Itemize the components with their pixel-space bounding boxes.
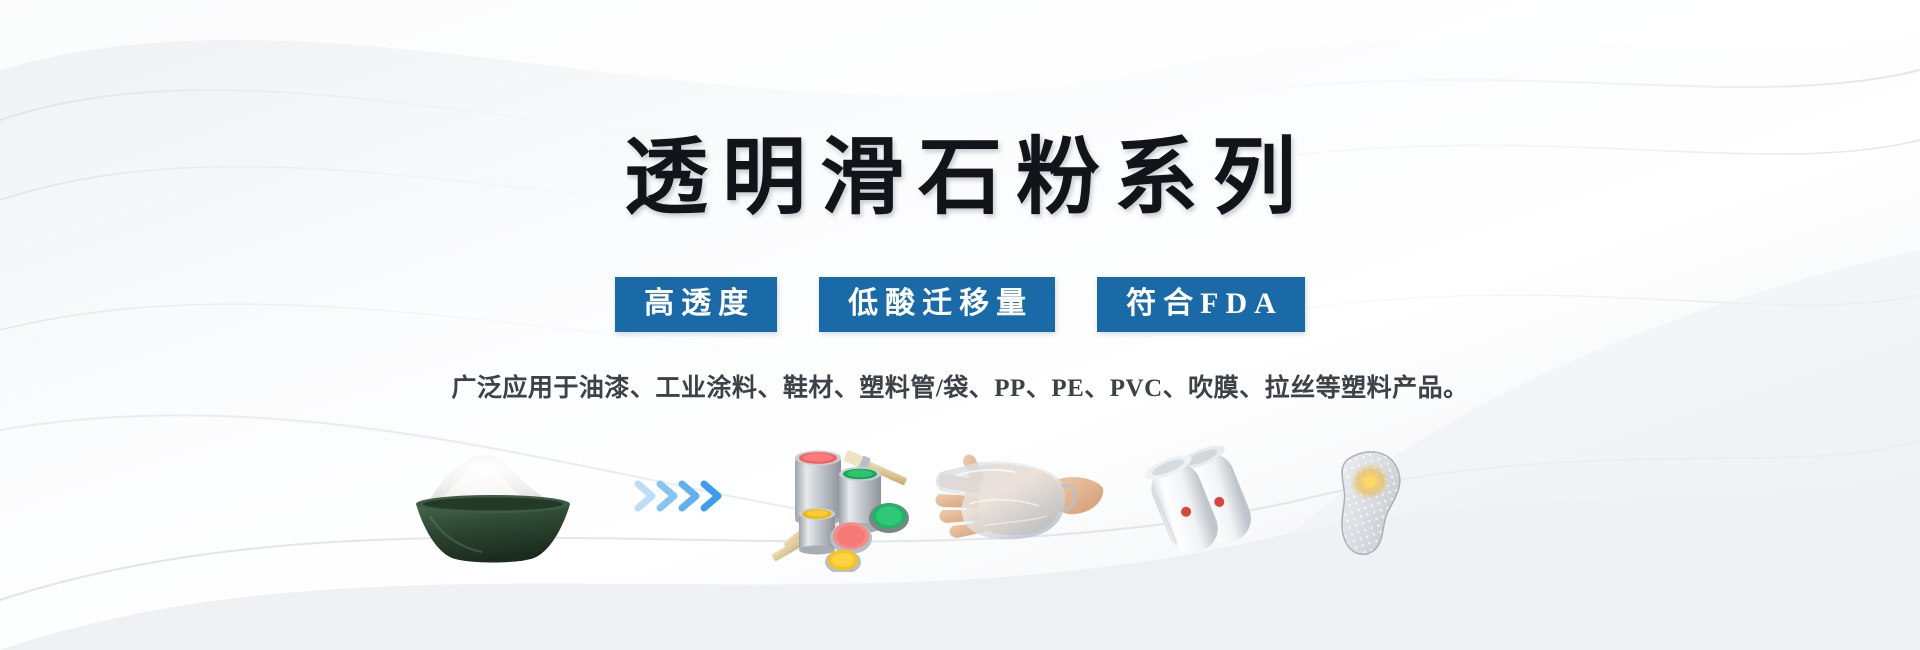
feature-badge-group: 高透度 低酸迁移量 符合FDA [0,277,1920,332]
page-title: 透明滑石粉系列 [610,134,1310,223]
feature-badge-low-acid-migration[interactable]: 低酸迁移量 [819,277,1055,332]
feature-badge-high-transparency[interactable]: 高透度 [615,277,777,332]
product-image-strip [0,432,1920,572]
shoe-insole-image [1318,444,1438,556]
product-banner: 透明滑石粉系列 高透度 低酸迁移量 符合FDA 广泛应用于油漆、工业涂料、鞋材、… [0,0,1920,650]
title-container: 透明滑石粉系列 [0,78,1920,280]
feature-badge-fda-compliant[interactable]: 符合FDA [1097,277,1305,332]
plastic-glove-image [935,440,1105,552]
process-arrow-icon [632,478,732,514]
talc-powder-bowl-image [408,444,578,564]
film-rolls-image [1140,446,1280,558]
paint-cans-image [765,440,915,572]
application-description: 广泛应用于油漆、工业涂料、鞋材、塑料管/袋、PP、PE、PVC、吹膜、拉丝等塑料… [0,368,1920,404]
